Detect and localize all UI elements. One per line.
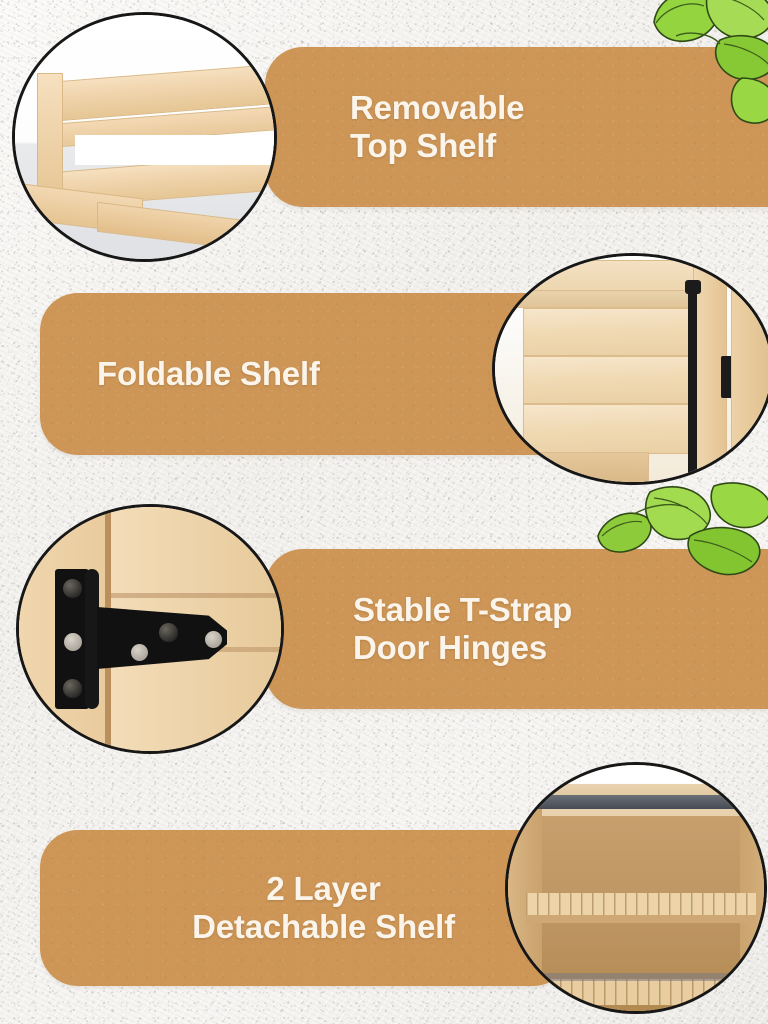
t-strap-hinge-photo [16,504,284,754]
foldable-shelf-photo [492,253,768,485]
feature-infographic: Removable Top Shelf Foldable Shelf [0,0,768,1024]
removable-top-shelf-photo [12,12,277,262]
feature-label-removable-top-shelf: Removable Top Shelf [350,89,524,166]
feature-banner-removable-top-shelf: Removable Top Shelf [265,47,768,207]
detachable-shelf-photo [505,762,767,1014]
feature-label-foldable-shelf: Foldable Shelf [97,355,320,393]
detachable-shelf-image [508,765,764,1011]
feature-label-detachable-shelf: 2 Layer Detachable Shelf [76,870,571,947]
feature-banner-t-strap-hinges: Stable T-Strap Door Hinges [265,549,768,709]
feature-banner-detachable-shelf: 2 Layer Detachable Shelf [40,830,571,986]
shelf-top-image [15,15,274,259]
t-strap-hinge-image [19,507,281,751]
foldable-shelf-image [495,256,768,482]
feature-label-t-strap-hinges: Stable T-Strap Door Hinges [353,591,572,668]
